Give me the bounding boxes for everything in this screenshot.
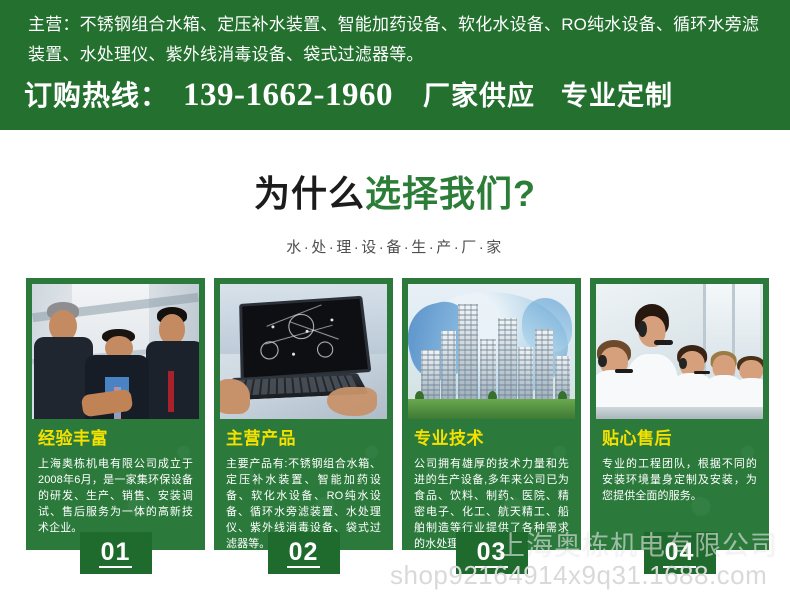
feature-card[interactable]: 专业技术 公司拥有雄厚的技术力量和先进的生产设备,多年来公司已为食品、饮料、制药… xyxy=(402,278,581,550)
feature-card[interactable]: 经验丰富 上海奥栋机电有限公司成立于2008年6月，是一家集环保设备的研发、生产… xyxy=(26,278,205,550)
card-body-text: 上海奥栋机电有限公司成立于2008年6月，是一家集环保设备的研发、生产、销售、安… xyxy=(38,456,193,536)
card-heading: 经验丰富 xyxy=(38,428,199,450)
card-heading: 专业技术 xyxy=(414,428,575,450)
hotline-number[interactable]: 139-1662-1960 xyxy=(183,77,393,114)
section-title-part-dark: 为什么 xyxy=(254,173,365,214)
section-subtitle: 水·处·理·设·备·生·产·厂·家 xyxy=(0,236,790,257)
card-heading: 贴心售后 xyxy=(602,428,763,450)
card-number-badge: 03 xyxy=(456,532,528,574)
section-title: 为什么选择我们? xyxy=(0,172,790,216)
section-title-part-green: 选择我们? xyxy=(365,173,536,214)
header-green-band: 主营：不锈钢组合水箱、定压补水装置、智能加药设备、软化水设备、RO纯水设备、循环… xyxy=(0,0,790,130)
card-number-value: 03 xyxy=(475,539,509,568)
card-number-badge: 02 xyxy=(268,532,340,574)
card-number-value: 04 xyxy=(663,539,697,568)
card-body-text: 专业的工程团队，根据不同的安装环境量身定制及安装，为您提供全面的服务。 xyxy=(602,456,757,504)
green-globe-city-photo xyxy=(408,284,575,419)
card-number-badge: 04 xyxy=(644,532,716,574)
banner-page: 主营：不锈钢组合水箱、定压补水装置、智能加药设备、软化水设备、RO纯水设备、循环… xyxy=(0,0,790,605)
card-number-badge: 01 xyxy=(80,532,152,574)
handshake-business-photo xyxy=(32,284,199,419)
hotline-tag-custom-made: 专业定制 xyxy=(561,74,673,113)
hotline-tag-factory-supply: 厂家供应 xyxy=(423,74,535,113)
hotline-row: 订购热线： 139-1662-1960 厂家供应 专业定制 xyxy=(24,74,779,114)
business-scope-text: 主营：不锈钢组合水箱、定压补水装置、智能加药设备、软化水设备、RO纯水设备、循环… xyxy=(28,10,773,70)
laptop-network-photo xyxy=(220,284,387,419)
feature-card-list: 经验丰富 上海奥栋机电有限公司成立于2008年6月，是一家集环保设备的研发、生产… xyxy=(26,278,766,558)
card-number-value: 02 xyxy=(287,539,321,568)
call-center-agents-photo xyxy=(596,284,763,419)
card-heading: 主营产品 xyxy=(226,428,387,450)
hotline-label: 订购热线： xyxy=(24,74,169,114)
card-number-value: 01 xyxy=(99,539,133,568)
feature-card[interactable]: 主营产品 主要产品有:不锈钢组合水箱、定压补水装置、智能加药设备、软化水设备、R… xyxy=(214,278,393,550)
feature-card[interactable]: 贴心售后 专业的工程团队，根据不同的安装环境量身定制及安装，为您提供全面的服务。… xyxy=(590,278,769,550)
